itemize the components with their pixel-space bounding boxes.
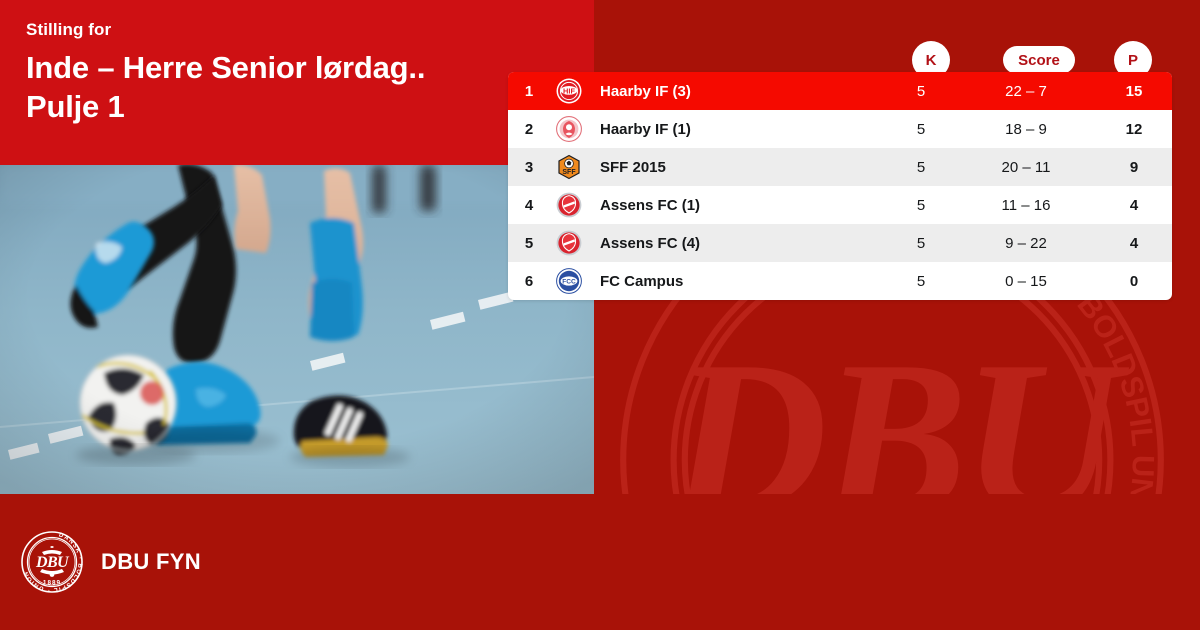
footer: DANSK · BOLDSPIL · UNION DBU 1889 DBU FY… bbox=[0, 494, 1200, 630]
row-points: 0 bbox=[1096, 273, 1172, 290]
row-team-name: Haarby IF (1) bbox=[588, 121, 886, 138]
row-position: 4 bbox=[508, 197, 550, 214]
assens-fc-crest-icon bbox=[550, 192, 588, 218]
indoor-futsal-photo bbox=[0, 165, 594, 494]
row-matches: 5 bbox=[886, 83, 956, 100]
row-team-name: Assens FC (4) bbox=[588, 235, 886, 252]
row-team-name: SFF 2015 bbox=[588, 159, 886, 176]
row-score: 9 – 22 bbox=[956, 235, 1096, 252]
svg-text:DBU: DBU bbox=[35, 554, 70, 571]
fc-campus-crest-icon: FCC bbox=[550, 268, 588, 294]
row-matches: 5 bbox=[886, 273, 956, 290]
row-matches: 5 bbox=[886, 121, 956, 138]
row-position: 3 bbox=[508, 159, 550, 176]
svg-text:FCC: FCC bbox=[562, 279, 576, 286]
footer-org-label: DBU FYN bbox=[101, 549, 201, 575]
row-score: 11 – 16 bbox=[956, 197, 1096, 214]
column-header-badges: K Score P bbox=[0, 0, 1200, 80]
row-score: 18 – 9 bbox=[956, 121, 1096, 138]
row-matches: 5 bbox=[886, 197, 956, 214]
assens-fc-crest-icon bbox=[550, 230, 588, 256]
row-matches: 5 bbox=[886, 159, 956, 176]
row-position: 1 bbox=[508, 83, 550, 100]
row-points: 12 bbox=[1096, 121, 1172, 138]
row-team-name: Assens FC (1) bbox=[588, 197, 886, 214]
table-row[interactable]: 1 HIF Haarby IF (3) 5 22 – 7 15 bbox=[508, 72, 1172, 110]
row-position: 2 bbox=[508, 121, 550, 138]
row-score: 22 – 7 bbox=[956, 83, 1096, 100]
row-team-name: Haarby IF (3) bbox=[588, 83, 886, 100]
table-row[interactable]: 2 Haarby IF (1) 5 18 – 9 12 bbox=[508, 110, 1172, 148]
row-points: 15 bbox=[1096, 83, 1172, 100]
row-matches: 5 bbox=[886, 235, 956, 252]
row-points: 4 bbox=[1096, 235, 1172, 252]
row-score: 20 – 11 bbox=[956, 159, 1096, 176]
dbu-crest-icon: DANSK · BOLDSPIL · UNION DBU 1889 bbox=[20, 530, 84, 594]
row-team-name: FC Campus bbox=[588, 273, 886, 290]
haarby-hif-crest-icon: HIF bbox=[550, 78, 588, 104]
table-row[interactable]: 3 SFF SFF 2015 5 20 – 11 9 bbox=[508, 148, 1172, 186]
haarby-if-crest-icon bbox=[550, 116, 588, 142]
row-points: 4 bbox=[1096, 197, 1172, 214]
infographic-canvas: DBU DANSK BOLDSPIL UNION Stilling for In… bbox=[0, 0, 1200, 630]
table-row[interactable]: 6 FCC FC Campus 5 0 – 15 0 bbox=[508, 262, 1172, 300]
row-position: 5 bbox=[508, 235, 550, 252]
sff-2015-crest-icon: SFF bbox=[550, 154, 588, 180]
svg-text:1889: 1889 bbox=[43, 580, 61, 587]
svg-text:SFF: SFF bbox=[562, 169, 576, 176]
column-header-score: Score bbox=[1003, 46, 1075, 74]
svg-text:HIF: HIF bbox=[563, 86, 575, 95]
row-score: 0 – 15 bbox=[956, 273, 1096, 290]
page-title-line-2: Pulje 1 bbox=[26, 89, 125, 124]
table-row[interactable]: 4 Assens FC (1) 5 11 – 16 4 bbox=[508, 186, 1172, 224]
row-points: 9 bbox=[1096, 159, 1172, 176]
standings-table: 1 HIF Haarby IF (3) 5 22 – 7 15 2 bbox=[508, 72, 1172, 300]
table-row[interactable]: 5 Assens FC (4) 5 9 – 22 4 bbox=[508, 224, 1172, 262]
row-position: 6 bbox=[508, 273, 550, 290]
